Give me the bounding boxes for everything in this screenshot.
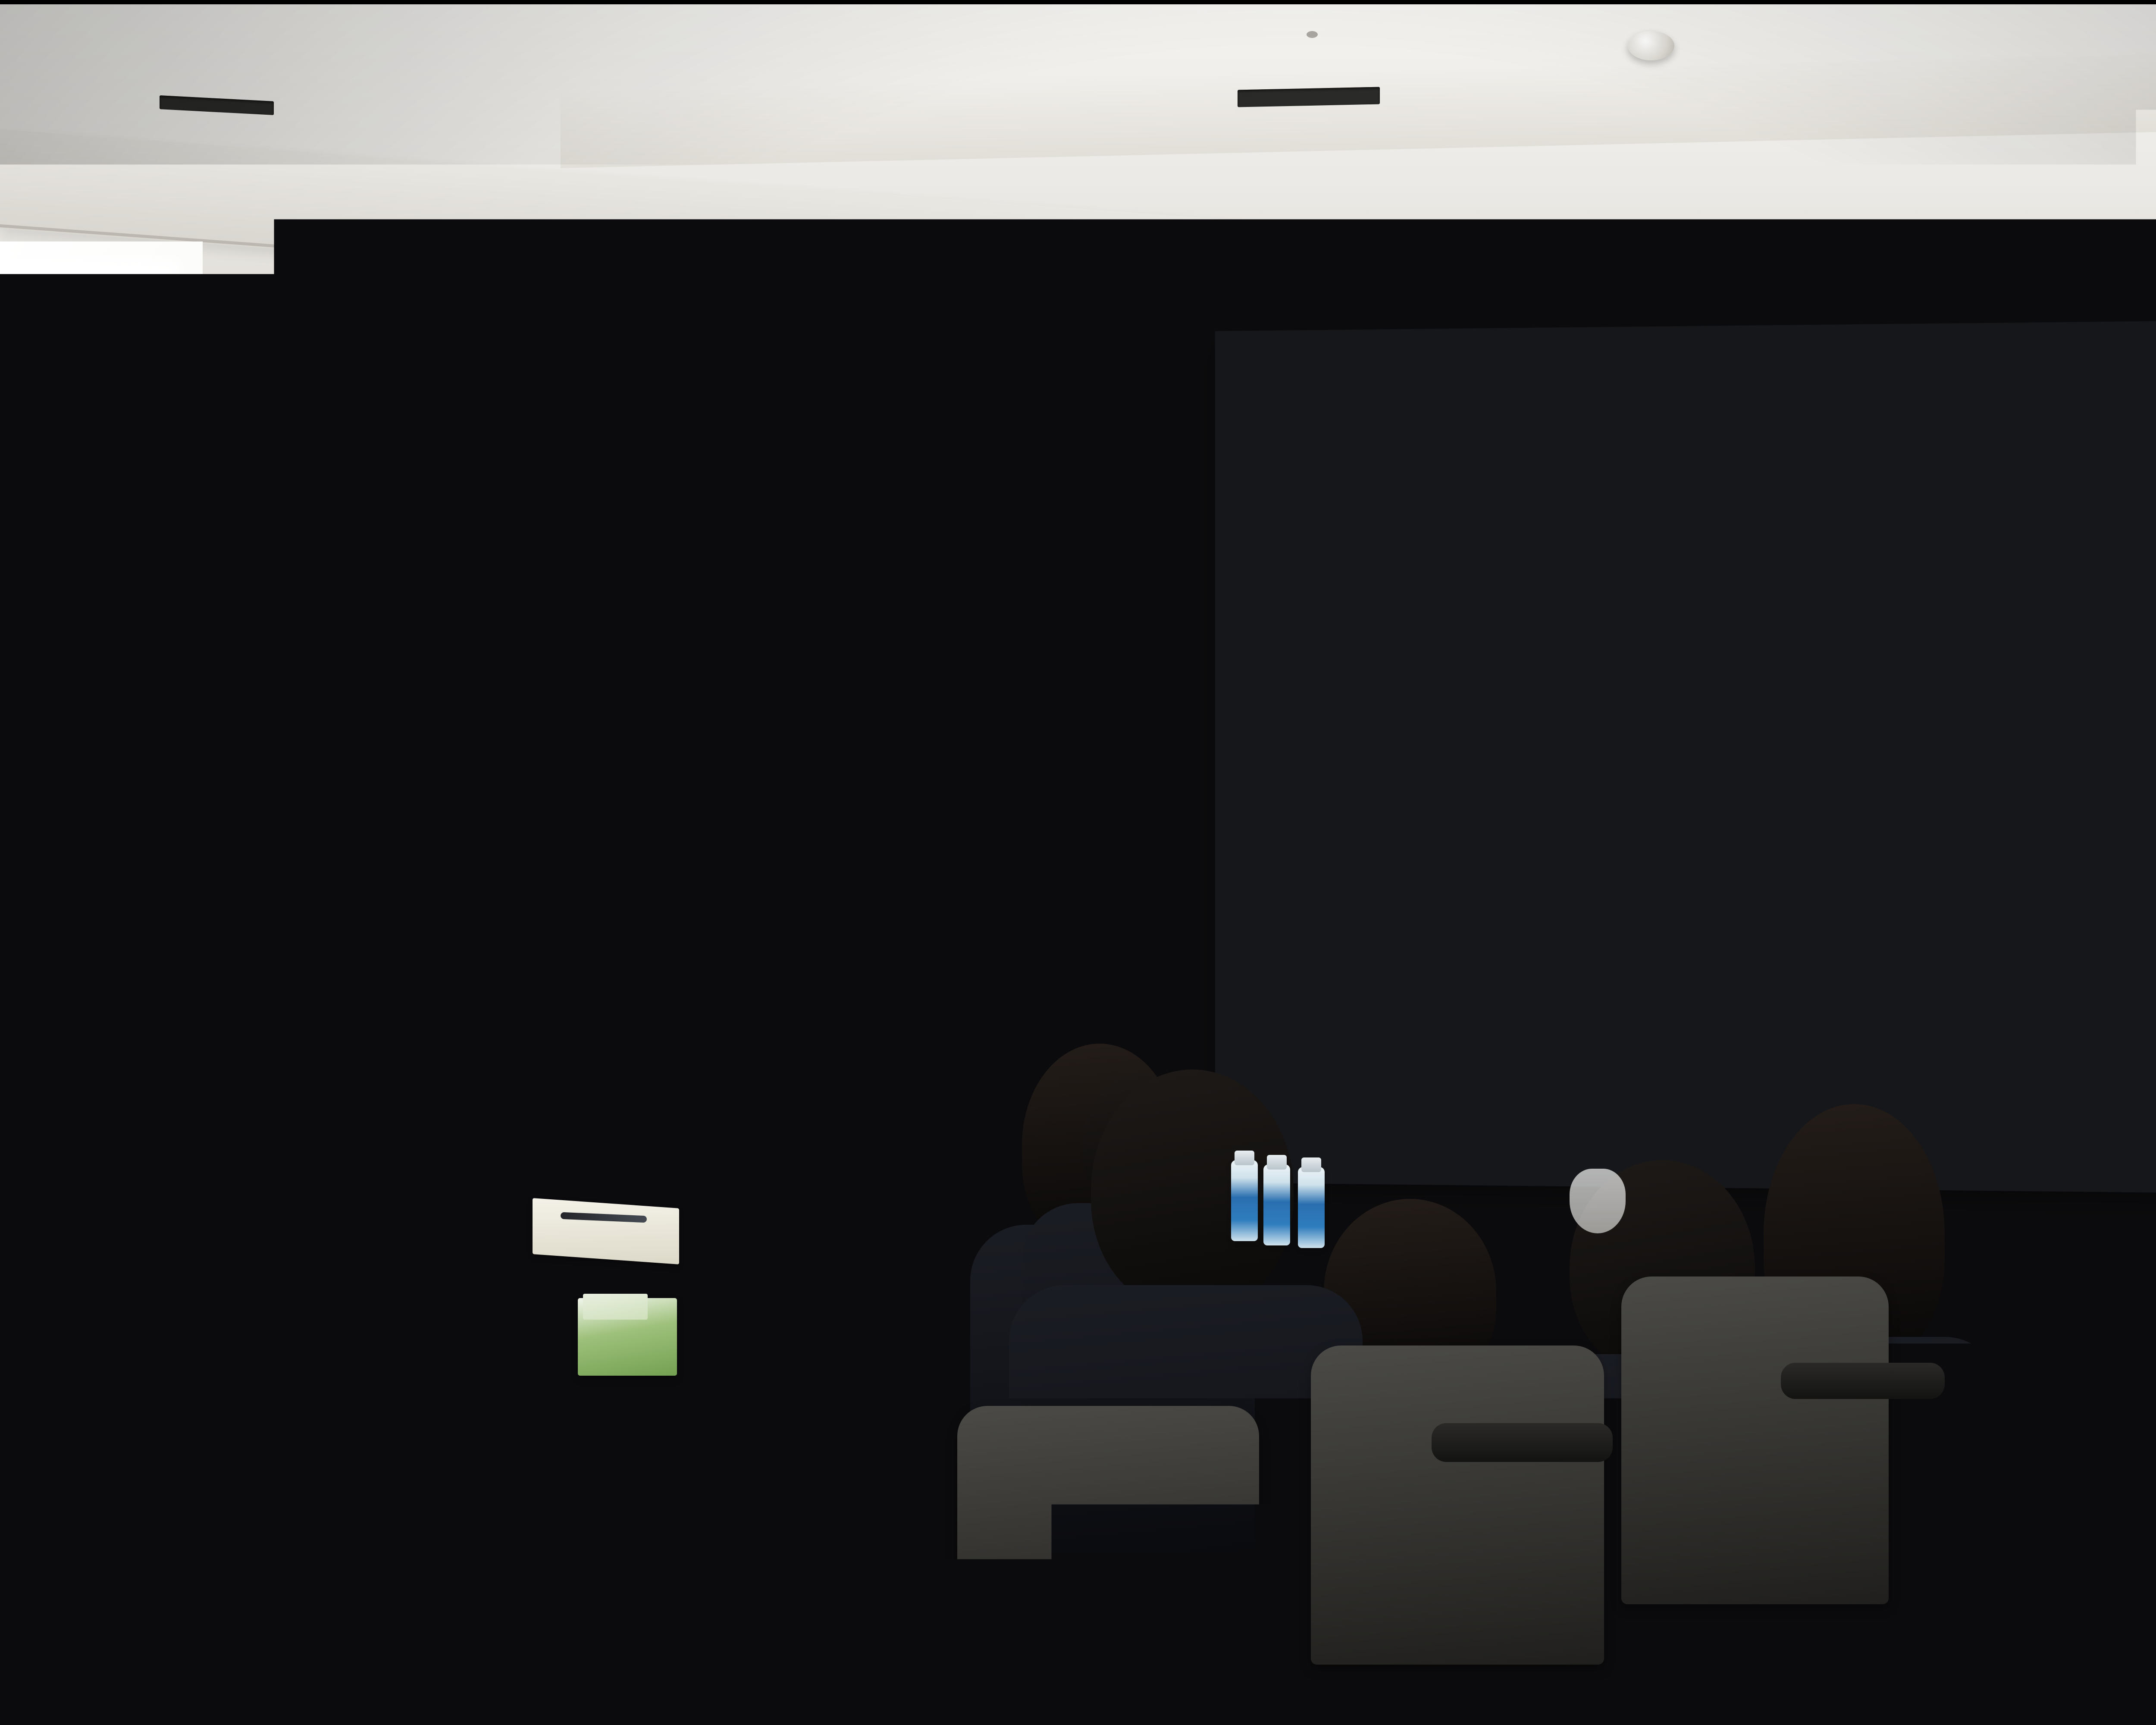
- slide-title-row: 合规、完整、明确是编制采购需求的三个基本要求: [1294, 431, 2156, 483]
- microphone-icon: [492, 833, 523, 868]
- attendee-hair: [39, 931, 164, 1117]
- bullet-icon: [1294, 454, 1305, 465]
- ceiling-sprinkler-2: [1779, 254, 1790, 260]
- tissue-box-top: [583, 1294, 648, 1320]
- laptop-icon: [837, 920, 975, 980]
- list-item: 1. 合规=合法+合规: [1319, 594, 2156, 624]
- list-item-number: 1.: [1319, 598, 1349, 624]
- meeting-room: 合规、完整、明确是编制采购需求的三个基本要求 1. 合规=合法+合规 2. 完整…: [0, 0, 2156, 1725]
- list-item-text: 合规=合法+合规: [1363, 597, 1523, 624]
- bottle-cap-icon: [1301, 1157, 1321, 1172]
- glasses-lens-right: [531, 693, 563, 710]
- office-chair: [267, 1061, 448, 1302]
- list-item-text: 完整=技术、方案、资质、标准、质量，市场调查、研究论证: [1363, 640, 1962, 668]
- office-chair: [957, 1406, 1259, 1673]
- projector-lens-icon: [755, 423, 788, 456]
- list-item-text: 明确=准确、明了、客观、细化、科学、有效，实现采购目标和物有所值: [1363, 684, 2076, 711]
- chair-armrest: [1432, 1423, 1613, 1462]
- ceiling-vent-2: [1238, 87, 1380, 107]
- tissue-box-top: [4, 1374, 99, 1404]
- list-item: 3. 明确=准确、明了、客观、细化、科学、有效，实现采购目标和物有所值: [1319, 684, 2156, 711]
- slide-numbered-list: 1. 合规=合法+合规 2. 完整=技术、方案、资质、标准、质量，市场调查、研究…: [1319, 594, 2156, 729]
- water-bottle: [1298, 1167, 1325, 1248]
- slide-paragraph-question: 如何实现？: [1307, 818, 1451, 850]
- tissue-box-top: [1001, 1258, 1070, 1285]
- letterbox-bottom: [0, 1660, 2156, 1725]
- office-chair: [1889, 1207, 2113, 1509]
- projector-cable-bundle: [797, 431, 844, 465]
- water-bottle: [1231, 1160, 1258, 1241]
- slide-title: 合规、完整、明确是编制采购需求的三个基本要求: [1321, 431, 2156, 483]
- attendee-body: [621, 1289, 1009, 1678]
- chair-armrest: [1781, 1363, 1945, 1399]
- list-item-number: 2.: [1319, 642, 1349, 667]
- office-chair: [1621, 1276, 1889, 1604]
- chair-base: [2139, 1596, 2156, 1603]
- glasses-icon: [486, 693, 563, 710]
- letterbox-top: [0, 0, 2156, 4]
- thermos-icon: [769, 896, 793, 981]
- projector-mount-pole: [787, 341, 799, 403]
- bottle-cap-icon: [1235, 1151, 1254, 1165]
- speaker-bracket-top: [505, 379, 532, 430]
- presentation-scene: 合规、完整、明确是编制采购需求的三个基本要求 1. 合规=合法+合规 2. 完整…: [0, 0, 2156, 1725]
- attendee: [621, 1048, 1009, 1673]
- attendee-body: [172, 1462, 625, 1678]
- ceiling-sprinkler-1: [1307, 31, 1318, 38]
- projection-screen: 合规、完整、明确是编制采购需求的三个基本要求 1. 合规=合法+合规 2. 完整…: [1225, 323, 2156, 1189]
- list-item-number: 3.: [1319, 685, 1349, 711]
- list-item: 2. 完整=技术、方案、资质、标准、质量，市场调查、研究论证: [1319, 639, 2156, 668]
- presenter-left-hand: [484, 914, 531, 970]
- smoke-detector: [1628, 31, 1674, 60]
- water-bottle: [1263, 1164, 1290, 1245]
- projector-power-led: [783, 462, 790, 467]
- slide-content: 合规、完整、明确是编制采购需求的三个基本要求 1. 合规=合法+合规 2. 完整…: [1225, 323, 2156, 1189]
- face-mask-icon: [1570, 1169, 1626, 1233]
- water-bottle: [515, 1259, 542, 1340]
- water-bottle: [547, 1254, 573, 1335]
- bottle-cap-icon: [984, 1211, 1004, 1226]
- presenter-hair: [478, 641, 570, 696]
- slide-paragraph: 如何实现？就采购需求征求意见：征求相关行业专家意见，以及公开征集相关供应商意见，…: [1307, 817, 2156, 888]
- ceiling-vent-3: [789, 238, 893, 251]
- wood-wall-seam-4: [1095, 298, 1100, 1160]
- bottle-cap-icon: [1267, 1155, 1287, 1170]
- notepad: [533, 1198, 679, 1264]
- office-chair: [1311, 1345, 1604, 1665]
- security-camera-lens-icon: [292, 339, 311, 354]
- glasses-lens-left: [486, 693, 518, 710]
